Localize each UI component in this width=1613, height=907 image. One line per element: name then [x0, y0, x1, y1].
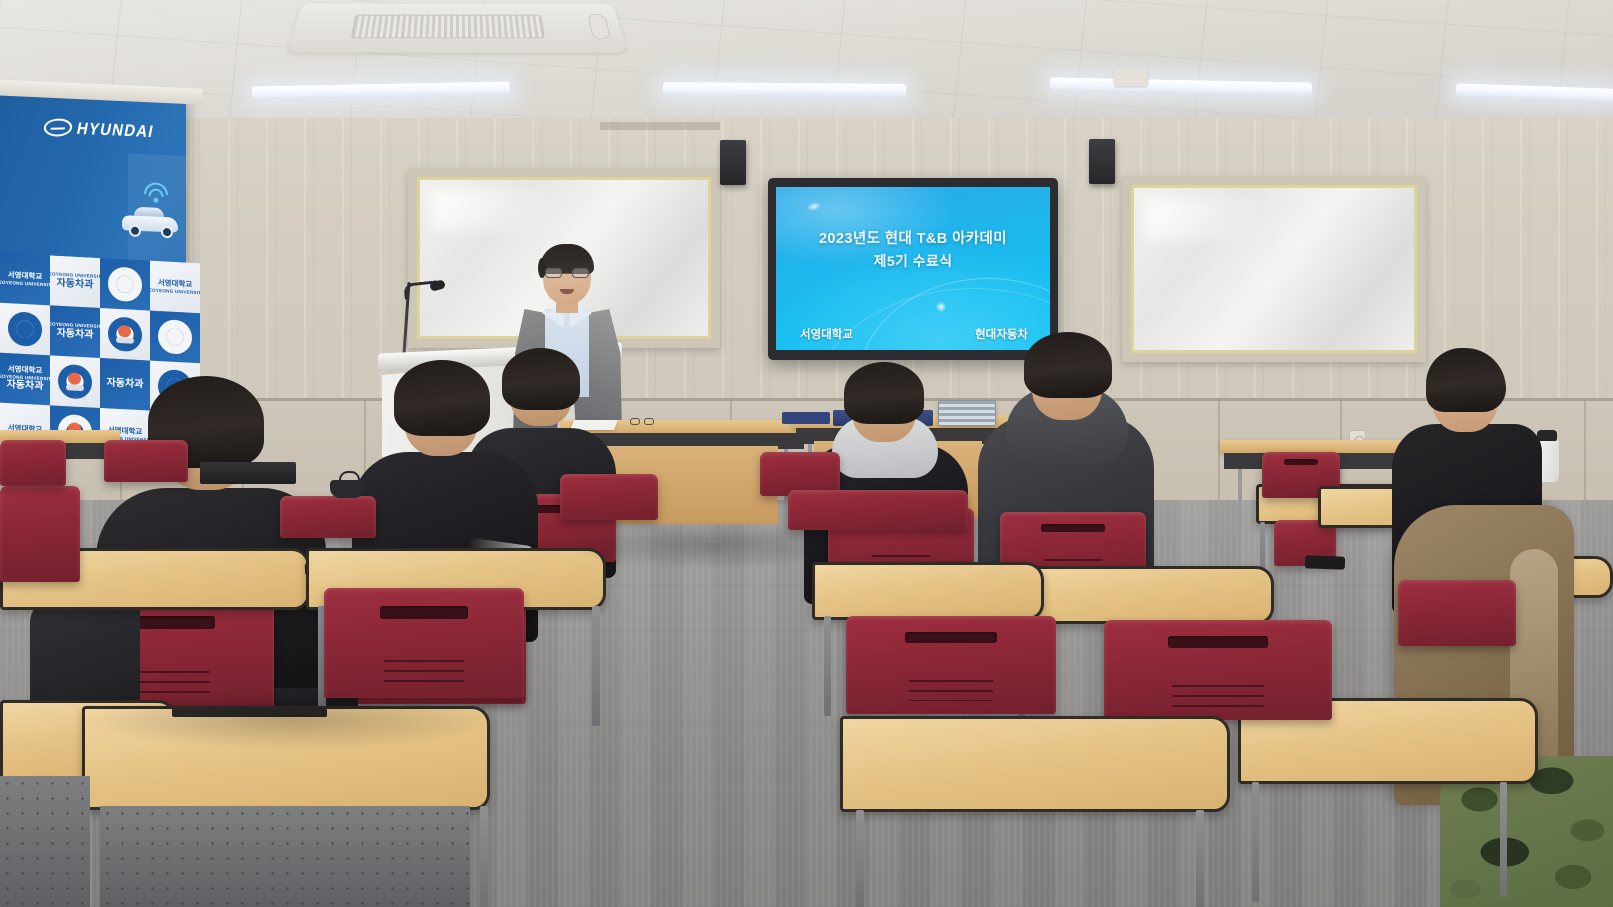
- student-chair: [324, 588, 524, 698]
- university-seal-icon: [158, 319, 192, 355]
- desk-leg: [1196, 810, 1204, 907]
- eyeglasses-icon: [545, 268, 589, 278]
- desk-leg: [824, 616, 831, 716]
- chair-vent-slots: [1172, 685, 1263, 707]
- ceiling: [0, 0, 1613, 132]
- floor-shadow: [560, 520, 860, 570]
- eyeglasses-on-table-icon: [630, 418, 654, 425]
- backdrop-dept-ko: 자동차과: [50, 327, 100, 343]
- student-chair: [1398, 580, 1516, 646]
- mascot-seal-icon: [58, 364, 92, 400]
- desk-leg: [592, 606, 600, 726]
- hyundai-logo-icon: HYUNDAI: [44, 118, 154, 141]
- chair-backrest: [280, 496, 376, 538]
- ac-grille: [351, 15, 545, 39]
- desk-leg: [480, 806, 488, 907]
- slide-footer-left: 서영대학교: [800, 326, 853, 342]
- backdrop-cell-text: 서영대학교 SEOYEONG UNIVERSITY: [150, 278, 200, 296]
- backdrop-dept-ko: 자동차과: [0, 379, 50, 395]
- backdrop-cell: 서영대학교 SEOYEONG UNIVERSITY: [0, 253, 50, 306]
- car-icon: [122, 205, 180, 239]
- hyundai-emblem-icon: [42, 118, 74, 137]
- mascot-icon: [66, 372, 84, 391]
- ac-slot: [587, 14, 612, 39]
- car-wheel: [161, 226, 173, 239]
- mascot-seal-icon: [108, 316, 142, 352]
- ceiling-sensor-icon: [1114, 68, 1148, 86]
- slide-title: 2023년도 현대 T&B 아카데미 제5기 수료식: [776, 229, 1050, 272]
- student-hair: [394, 360, 490, 436]
- backdrop-univ-en: SEOYEONG UNIVERSITY: [0, 279, 50, 288]
- chair-vent-slots: [909, 680, 993, 702]
- chair-backrest: [324, 588, 524, 698]
- slide-title-line2: 제5기 수료식: [776, 251, 1050, 272]
- backpack: [330, 480, 364, 498]
- student-desk: [812, 562, 1044, 620]
- mascot-head: [118, 325, 131, 338]
- chair-handle-slot: [905, 632, 997, 644]
- chair-handle-slot: [1168, 636, 1268, 648]
- student-chair: [0, 440, 66, 486]
- mascot-icon: [116, 325, 134, 344]
- desk-leg: [856, 810, 864, 907]
- backdrop-cell: [0, 303, 50, 356]
- student-chair: [1104, 620, 1332, 720]
- laptop-closed: [200, 462, 296, 484]
- desk-leg: [1500, 782, 1507, 897]
- university-seal-icon: [8, 311, 42, 347]
- backdrop-cell: SEOYEONG UNIVERSITY 자동차과: [50, 255, 100, 308]
- mascot-car: [66, 384, 84, 391]
- chair-vent-slots: [384, 660, 464, 684]
- backdrop-cell-text: 서영대학교 SEOYEONG UNIVERSITY: [0, 270, 50, 288]
- backdrop-cell-text: SEOYEONG UNIVERSITY 자동차과: [50, 321, 100, 342]
- wall-vent-icon: [600, 122, 720, 130]
- backdrop-cell: 서영대학교 SEOYEONG UNIVERSITY: [150, 261, 200, 314]
- wall-speaker-icon: [720, 140, 746, 185]
- backdrop-cell: [50, 355, 100, 408]
- slide-title-line1: 2023년도 현대 T&B 아카데미: [776, 229, 1050, 251]
- whiteboard-right: [1122, 176, 1426, 362]
- chair-handle-slot: [1041, 524, 1105, 533]
- wall-speaker-icon: [1089, 139, 1115, 184]
- student-chair: [280, 496, 376, 538]
- backdrop-cell-text: SEOYEONG UNIVERSITY 자동차과: [50, 271, 100, 292]
- screen-sparkle-icon: [805, 199, 823, 213]
- mascot-head: [68, 372, 81, 385]
- backdrop-cell: 서영대학교 SEOYEONG UNIVERSITY 자동차과: [0, 353, 50, 406]
- desk-surface: [840, 716, 1230, 812]
- backdrop-cell: [100, 258, 150, 311]
- student-chair: [560, 474, 658, 520]
- student-hair: [844, 362, 924, 424]
- chair-handle-slot: [380, 606, 468, 619]
- chair-backrest: [0, 440, 66, 486]
- backdrop-dept-ko: 자동차과: [50, 277, 100, 293]
- mascot-car: [116, 337, 134, 344]
- desk-leg: [1252, 782, 1259, 902]
- student-hair: [1426, 348, 1506, 412]
- university-seal-icon: [108, 266, 142, 302]
- table-leg: [1238, 469, 1242, 527]
- desk-modesty-panel: [100, 806, 470, 907]
- ceiling-ac-unit-icon: [287, 4, 627, 53]
- ceiling-tile-grid: [0, 0, 1613, 132]
- chair-backrest: [1398, 580, 1516, 646]
- classroom-photo: 2023년도 현대 T&B 아카데미 제5기 수료식 서영대학교 현대자동차 H…: [0, 0, 1613, 907]
- desk-modesty-panel: [0, 776, 90, 907]
- backdrop-cell-text: 서영대학교 SEOYEONG UNIVERSITY 자동차과: [0, 364, 50, 395]
- floor-shadow: [80, 690, 500, 750]
- wifi-icon: [142, 182, 170, 203]
- wifi-dot: [154, 198, 159, 203]
- hyundai-wordmark: HYUNDAI: [75, 119, 155, 141]
- backdrop-cell: [100, 308, 150, 361]
- student-chair: [104, 440, 188, 482]
- backdrop-cell: SEOYEONG UNIVERSITY 자동차과: [50, 305, 100, 358]
- student-hair: [1024, 332, 1112, 398]
- chair-backrest: [846, 616, 1056, 714]
- display-screen: 2023년도 현대 T&B 아카데미 제5기 수료식 서영대학교 현대자동차: [776, 187, 1050, 350]
- smartphone: [1305, 555, 1345, 569]
- student-chair: [0, 486, 80, 582]
- ceiling-light-strip: [663, 82, 906, 97]
- backdrop-univ-en: SEOYEONG UNIVERSITY: [150, 287, 200, 296]
- screen-sparkle-icon: [935, 301, 947, 313]
- whiteboard-glare: [1145, 198, 1257, 240]
- chair-handle-slot: [1284, 459, 1318, 465]
- backdrop-cell: [150, 311, 200, 364]
- chair-backrest: [1104, 620, 1332, 720]
- student-chair: [846, 616, 1056, 714]
- car-wheel: [129, 225, 141, 238]
- desk-surface: [812, 562, 1044, 620]
- student-desk: [840, 716, 1230, 812]
- chair-backrest: [560, 474, 658, 520]
- whiteboard-surface: [1131, 185, 1417, 353]
- chair-backrest: [104, 440, 188, 482]
- whiteboard-glare: [432, 189, 547, 230]
- chair-backrest: [0, 486, 80, 582]
